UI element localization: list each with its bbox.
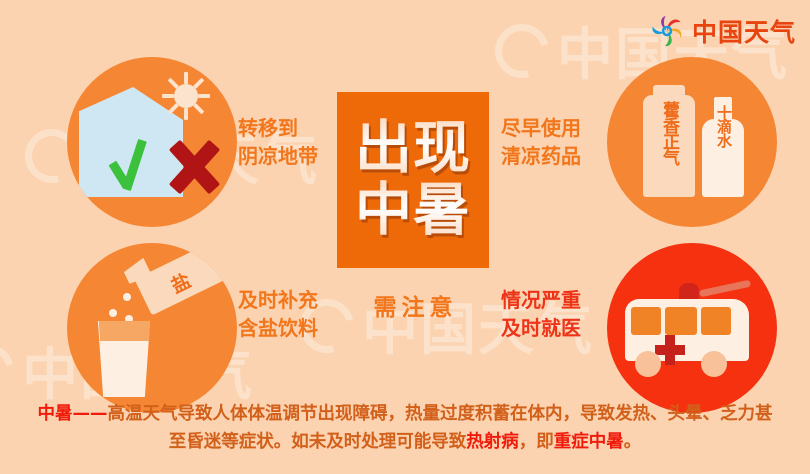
caption-line-1: 转移到 xyxy=(238,114,318,142)
caption-seek-medical-help: 情况严重 及时就医 xyxy=(501,286,581,343)
ambulance-wheel xyxy=(635,351,661,377)
footer-dash: —— xyxy=(73,404,108,424)
footer-part-1: 高温天气导致人体体温调节出现障碍，热量过度积蓄在体内，导致发热、头晕、乏力甚至昏… xyxy=(108,404,773,452)
caption-line-2: 及时就医 xyxy=(501,314,581,342)
quadrant-icon-seek-medical-help xyxy=(607,243,777,413)
quadrant-icon-drink-salt-water: 盐 xyxy=(67,243,237,413)
bottle-small-label: 十滴水 xyxy=(714,105,735,193)
caption-move-to-shade: 转移到 阴凉地带 xyxy=(238,114,318,171)
ambulance-wheel xyxy=(701,351,727,377)
green-check-icon xyxy=(113,135,157,191)
caption-line-1: 及时补充 xyxy=(238,286,318,314)
glass-liquid xyxy=(96,321,153,341)
pinwheel-logo-icon xyxy=(649,13,685,49)
caption-line-2: 含盐饮料 xyxy=(238,314,318,342)
footer-highlight-2: 重症中暑 xyxy=(554,432,624,452)
red-cross-mark-icon xyxy=(167,139,223,195)
caption-line-2: 清凉药品 xyxy=(501,142,581,170)
caption-drink-salt-water: 及时补充 含盐饮料 xyxy=(238,286,318,343)
ambulance-siren-icon xyxy=(679,283,699,300)
quadrant-icon-use-cooling-medicine: 藿香正气 十滴水 xyxy=(607,57,777,227)
caption-use-cooling-medicine: 尽早使用 清凉药品 xyxy=(501,114,581,171)
quadrant-icon-move-to-shade xyxy=(67,57,237,227)
salt-grain xyxy=(109,309,117,317)
caption-line-2: 阴凉地带 xyxy=(238,142,318,170)
title-line-2: 中暑 xyxy=(355,180,471,242)
infographic-poster: 中国天气 中国天气 中国天气 中国天气 中国天气 xyxy=(0,0,810,474)
ambulance-antenna xyxy=(699,280,751,298)
footer-part-3: 。 xyxy=(624,432,642,452)
caption-line-1: 情况严重 xyxy=(501,286,581,314)
bottle-cap xyxy=(653,85,685,99)
logo-text: 中国天气 xyxy=(692,13,796,49)
subtitle: 需注意 xyxy=(337,288,489,322)
brand-logo: 中国天气 xyxy=(649,13,796,49)
ambulance-window xyxy=(665,307,697,335)
salt-grain xyxy=(123,293,131,301)
ambulance-window xyxy=(631,307,661,335)
ambulance-window xyxy=(701,307,731,335)
bottle-large-label: 藿香正气 xyxy=(657,101,682,193)
watermark-spiral-icon xyxy=(485,14,559,88)
footer-definition: 中暑——高温天气导致人体体温调节出现障碍，热量过度积蓄在体内，导致发热、头晕、乏… xyxy=(0,400,810,457)
caption-line-1: 尽早使用 xyxy=(501,114,581,142)
footer-term: 中暑 xyxy=(38,404,73,424)
sun-icon xyxy=(163,73,209,119)
title-line-1: 出现 xyxy=(355,118,471,180)
footer-highlight-1: 热射病 xyxy=(466,432,519,452)
main-title-box: 出现 中暑 xyxy=(337,92,489,268)
watermark-spiral-icon xyxy=(0,334,24,408)
footer-part-2: ，即 xyxy=(519,432,554,452)
